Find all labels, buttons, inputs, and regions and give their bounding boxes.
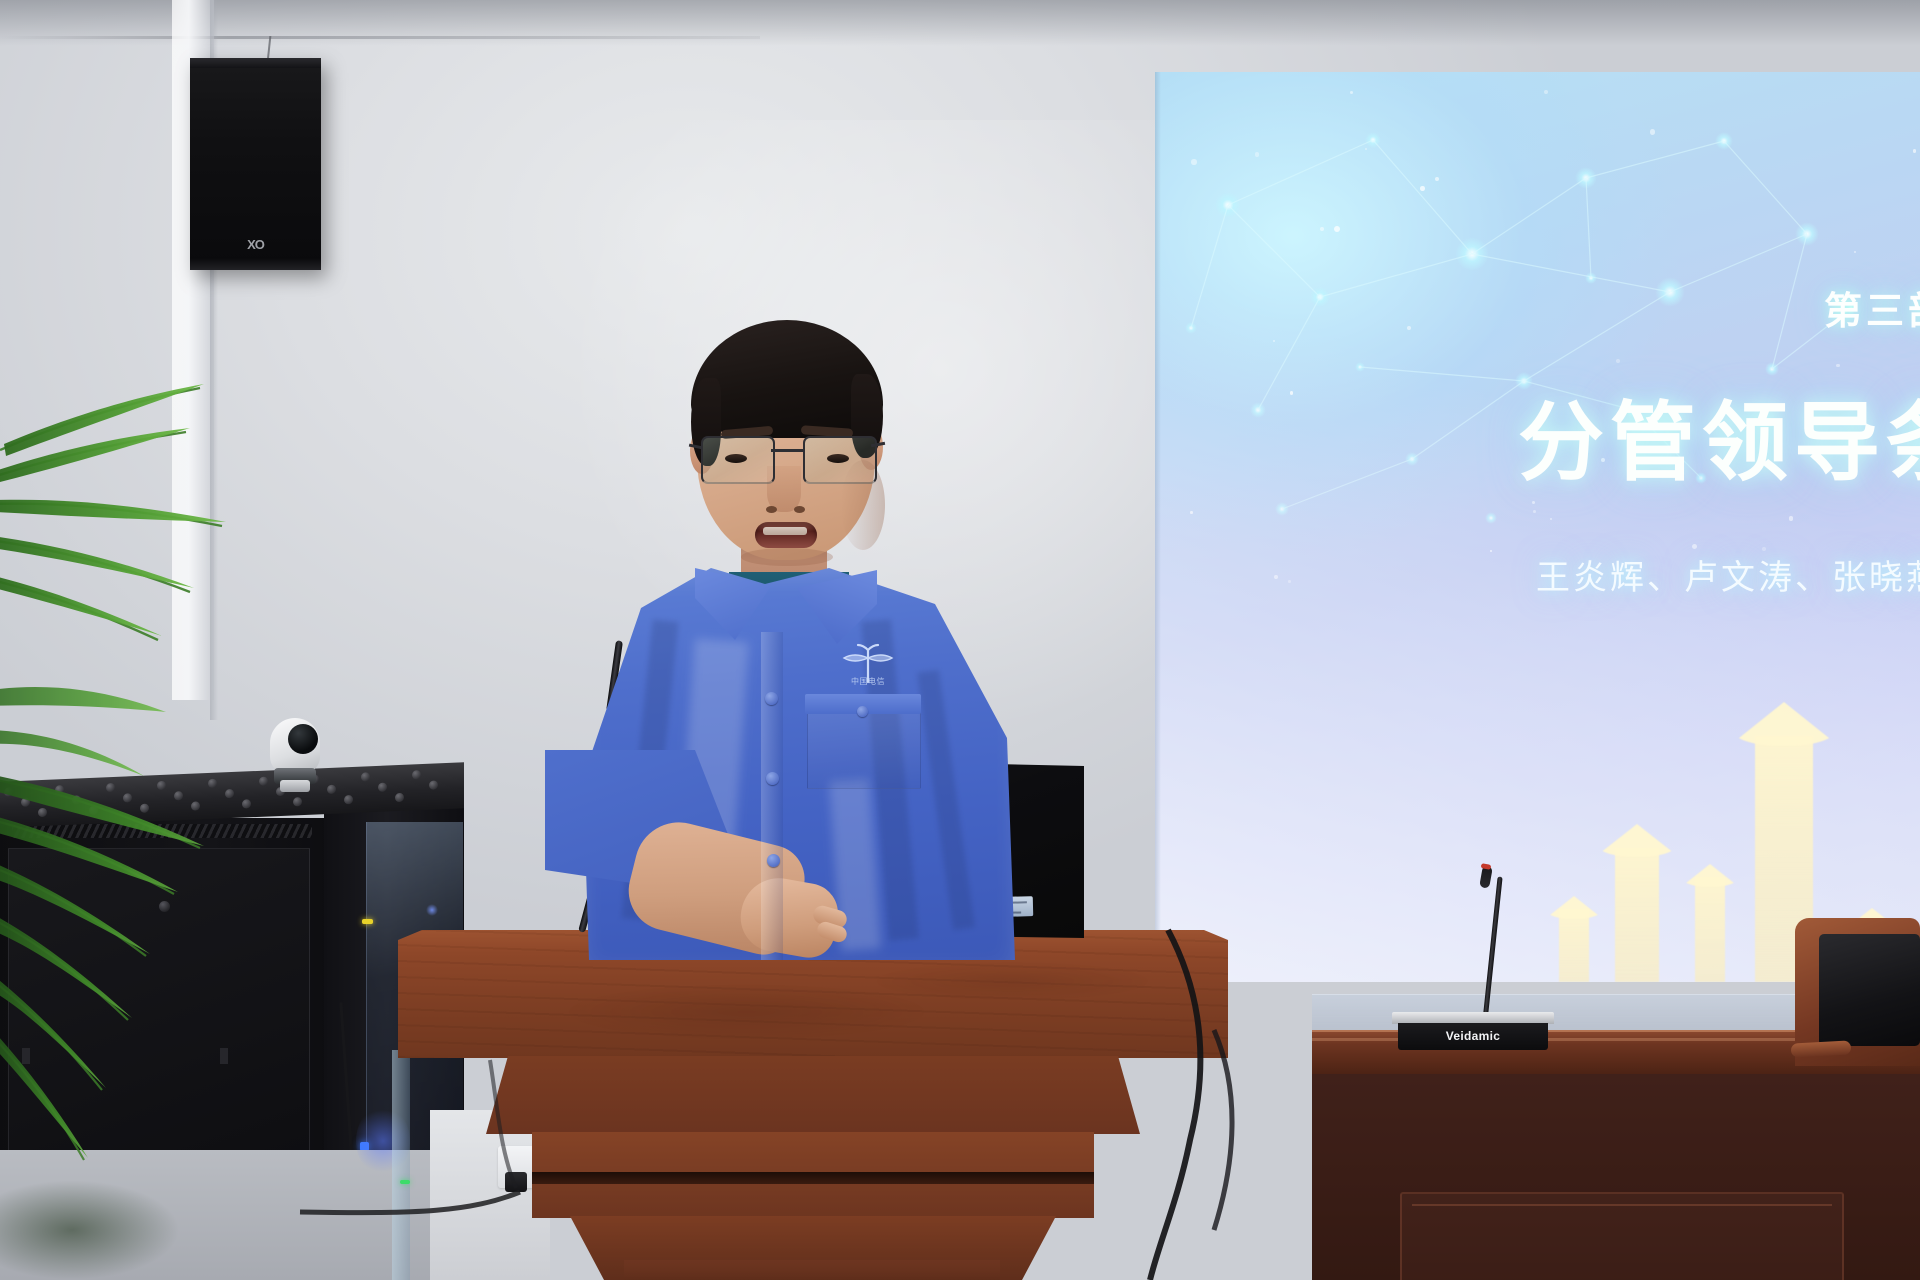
arrow-shaft xyxy=(1615,848,1659,982)
slide-arrow-1 xyxy=(1559,886,1589,982)
arrow-head xyxy=(1681,864,1739,887)
shirt-button xyxy=(766,772,779,785)
chair-leather-back xyxy=(1819,934,1920,1046)
ceiling-shadow xyxy=(0,0,1920,46)
rack-bolt xyxy=(378,783,387,792)
speaker-top-edge xyxy=(190,58,321,68)
conference-chair xyxy=(1795,918,1920,1078)
rack-bolt xyxy=(361,772,370,781)
slide-arrow-2 xyxy=(1615,814,1659,982)
rack-bolt xyxy=(429,780,438,789)
eye-left xyxy=(725,454,747,463)
arrow-head xyxy=(1595,824,1679,857)
podium-shadow-groove xyxy=(532,1172,1094,1184)
eye-right xyxy=(827,454,849,463)
shirt-placket xyxy=(761,632,783,960)
slide-arrow-3 xyxy=(1695,854,1725,982)
shirt-button xyxy=(767,854,780,867)
shirt-button xyxy=(765,692,778,705)
table-microphone-base[interactable]: Veidamic xyxy=(1392,1012,1554,1050)
table-panel-inset xyxy=(1400,1192,1844,1280)
slide-title: 分管领导条线 xyxy=(1518,372,1920,497)
table-microphone-housing: Veidamic xyxy=(1398,1023,1548,1050)
teeth xyxy=(763,527,807,535)
arrow-head xyxy=(1545,896,1603,919)
slide-presenter-names: 王炎辉、卢文涛、张晓燕、 xyxy=(1536,550,1920,599)
rack-bolt xyxy=(395,793,404,802)
rack-bolt xyxy=(412,770,421,779)
rack-led-blue xyxy=(426,904,438,916)
conference-room-scene: XO 第三部 分管领导条线 王炎辉、卢文涛、张晓燕、 xyxy=(0,0,1920,1280)
rack-bolt xyxy=(327,785,336,794)
table-panel-bevel xyxy=(1412,1204,1832,1280)
table-microphone-brand-label: Veidamic xyxy=(1398,1029,1548,1043)
eyeglass-bridge xyxy=(771,449,803,452)
rack-bolt xyxy=(344,795,353,804)
screen-left-edge xyxy=(1155,72,1161,982)
rack-led-amber xyxy=(362,919,373,924)
table-front-panel xyxy=(1312,1074,1920,1280)
podium-mid-section xyxy=(486,1056,1140,1134)
mouth xyxy=(755,522,817,548)
wall-seam xyxy=(0,36,760,39)
nostril-right xyxy=(794,506,805,513)
areca-palm-plant xyxy=(0,220,320,1280)
eyeglasses xyxy=(701,436,873,484)
presenter: 中国电信 xyxy=(545,320,1065,960)
chin-shadow xyxy=(741,548,833,566)
arrow-shaft xyxy=(1559,909,1589,982)
wooden-podium xyxy=(398,930,1228,1280)
arrow-shaft xyxy=(1695,877,1725,982)
arrow-head xyxy=(1729,702,1839,746)
slide-section-label: 第三部 xyxy=(1824,280,1920,335)
nostril-left xyxy=(766,506,777,513)
pocket-button xyxy=(857,706,868,717)
projection-screen: 第三部 分管领导条线 王炎辉、卢文涛、张晓燕、 xyxy=(1155,72,1920,982)
shirt-embroidery-text: 中国电信 xyxy=(829,676,907,687)
podium-plinth xyxy=(624,1260,1000,1280)
